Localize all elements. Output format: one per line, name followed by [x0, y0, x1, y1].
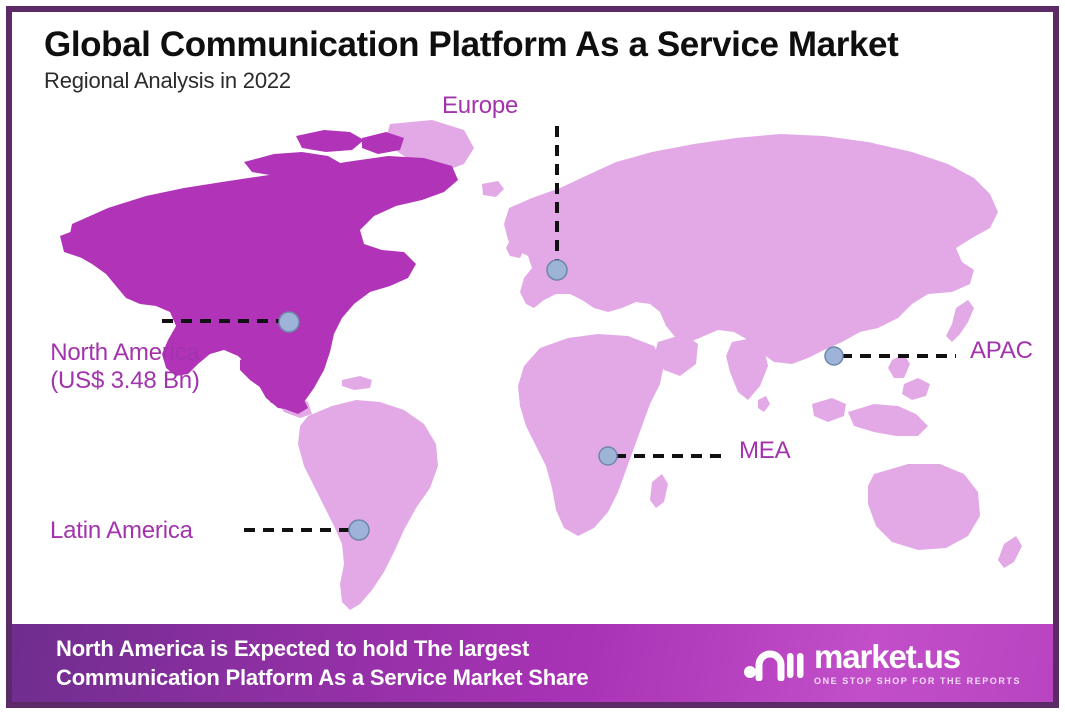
infographic-frame: Global Communication Platform As a Servi… — [6, 6, 1059, 708]
marker-north-america — [279, 312, 299, 332]
region-label-apac-text: APAC — [970, 337, 1033, 364]
region-label-latin-america-text: Latin America — [50, 517, 193, 544]
region-label-north-america-text: North America — [16, 339, 234, 367]
marker-mea — [599, 447, 617, 465]
infographic-root: Global Communication Platform As a Servi… — [0, 0, 1065, 714]
marker-europe — [547, 260, 567, 280]
region-label-apac: APAC — [970, 337, 1033, 365]
market-us-logo[interactable]: market.us ONE STOP SHOP FOR THE REPORTS — [743, 640, 1037, 686]
region-label-mea-text: MEA — [739, 437, 790, 464]
marker-latin-america — [349, 520, 369, 540]
footer-banner-line-1: North America is Expected to hold The la… — [56, 634, 588, 663]
market-us-logo-tagline: ONE STOP SHOP FOR THE REPORTS — [814, 677, 1021, 686]
footer-banner-line-2: Communication Platform As a Service Mark… — [56, 663, 588, 692]
region-label-north-america: North America (US$ 3.48 Bn) — [16, 339, 234, 396]
market-us-logo-mark-icon — [743, 641, 805, 686]
region-label-europe-text: Europe — [442, 92, 518, 119]
market-us-logo-name: market.us — [814, 640, 1021, 673]
market-us-logo-words: market.us ONE STOP SHOP FOR THE REPORTS — [814, 640, 1021, 686]
region-value-north-america: (US$ 3.48 Bn) — [16, 367, 234, 395]
footer-banner: North America is Expected to hold The la… — [12, 624, 1053, 702]
region-label-europe: Europe — [442, 92, 672, 120]
region-label-mea: MEA — [739, 437, 790, 465]
region-label-latin-america: Latin America — [50, 517, 193, 545]
marker-apac — [825, 347, 843, 365]
footer-banner-text: North America is Expected to hold The la… — [56, 634, 588, 693]
